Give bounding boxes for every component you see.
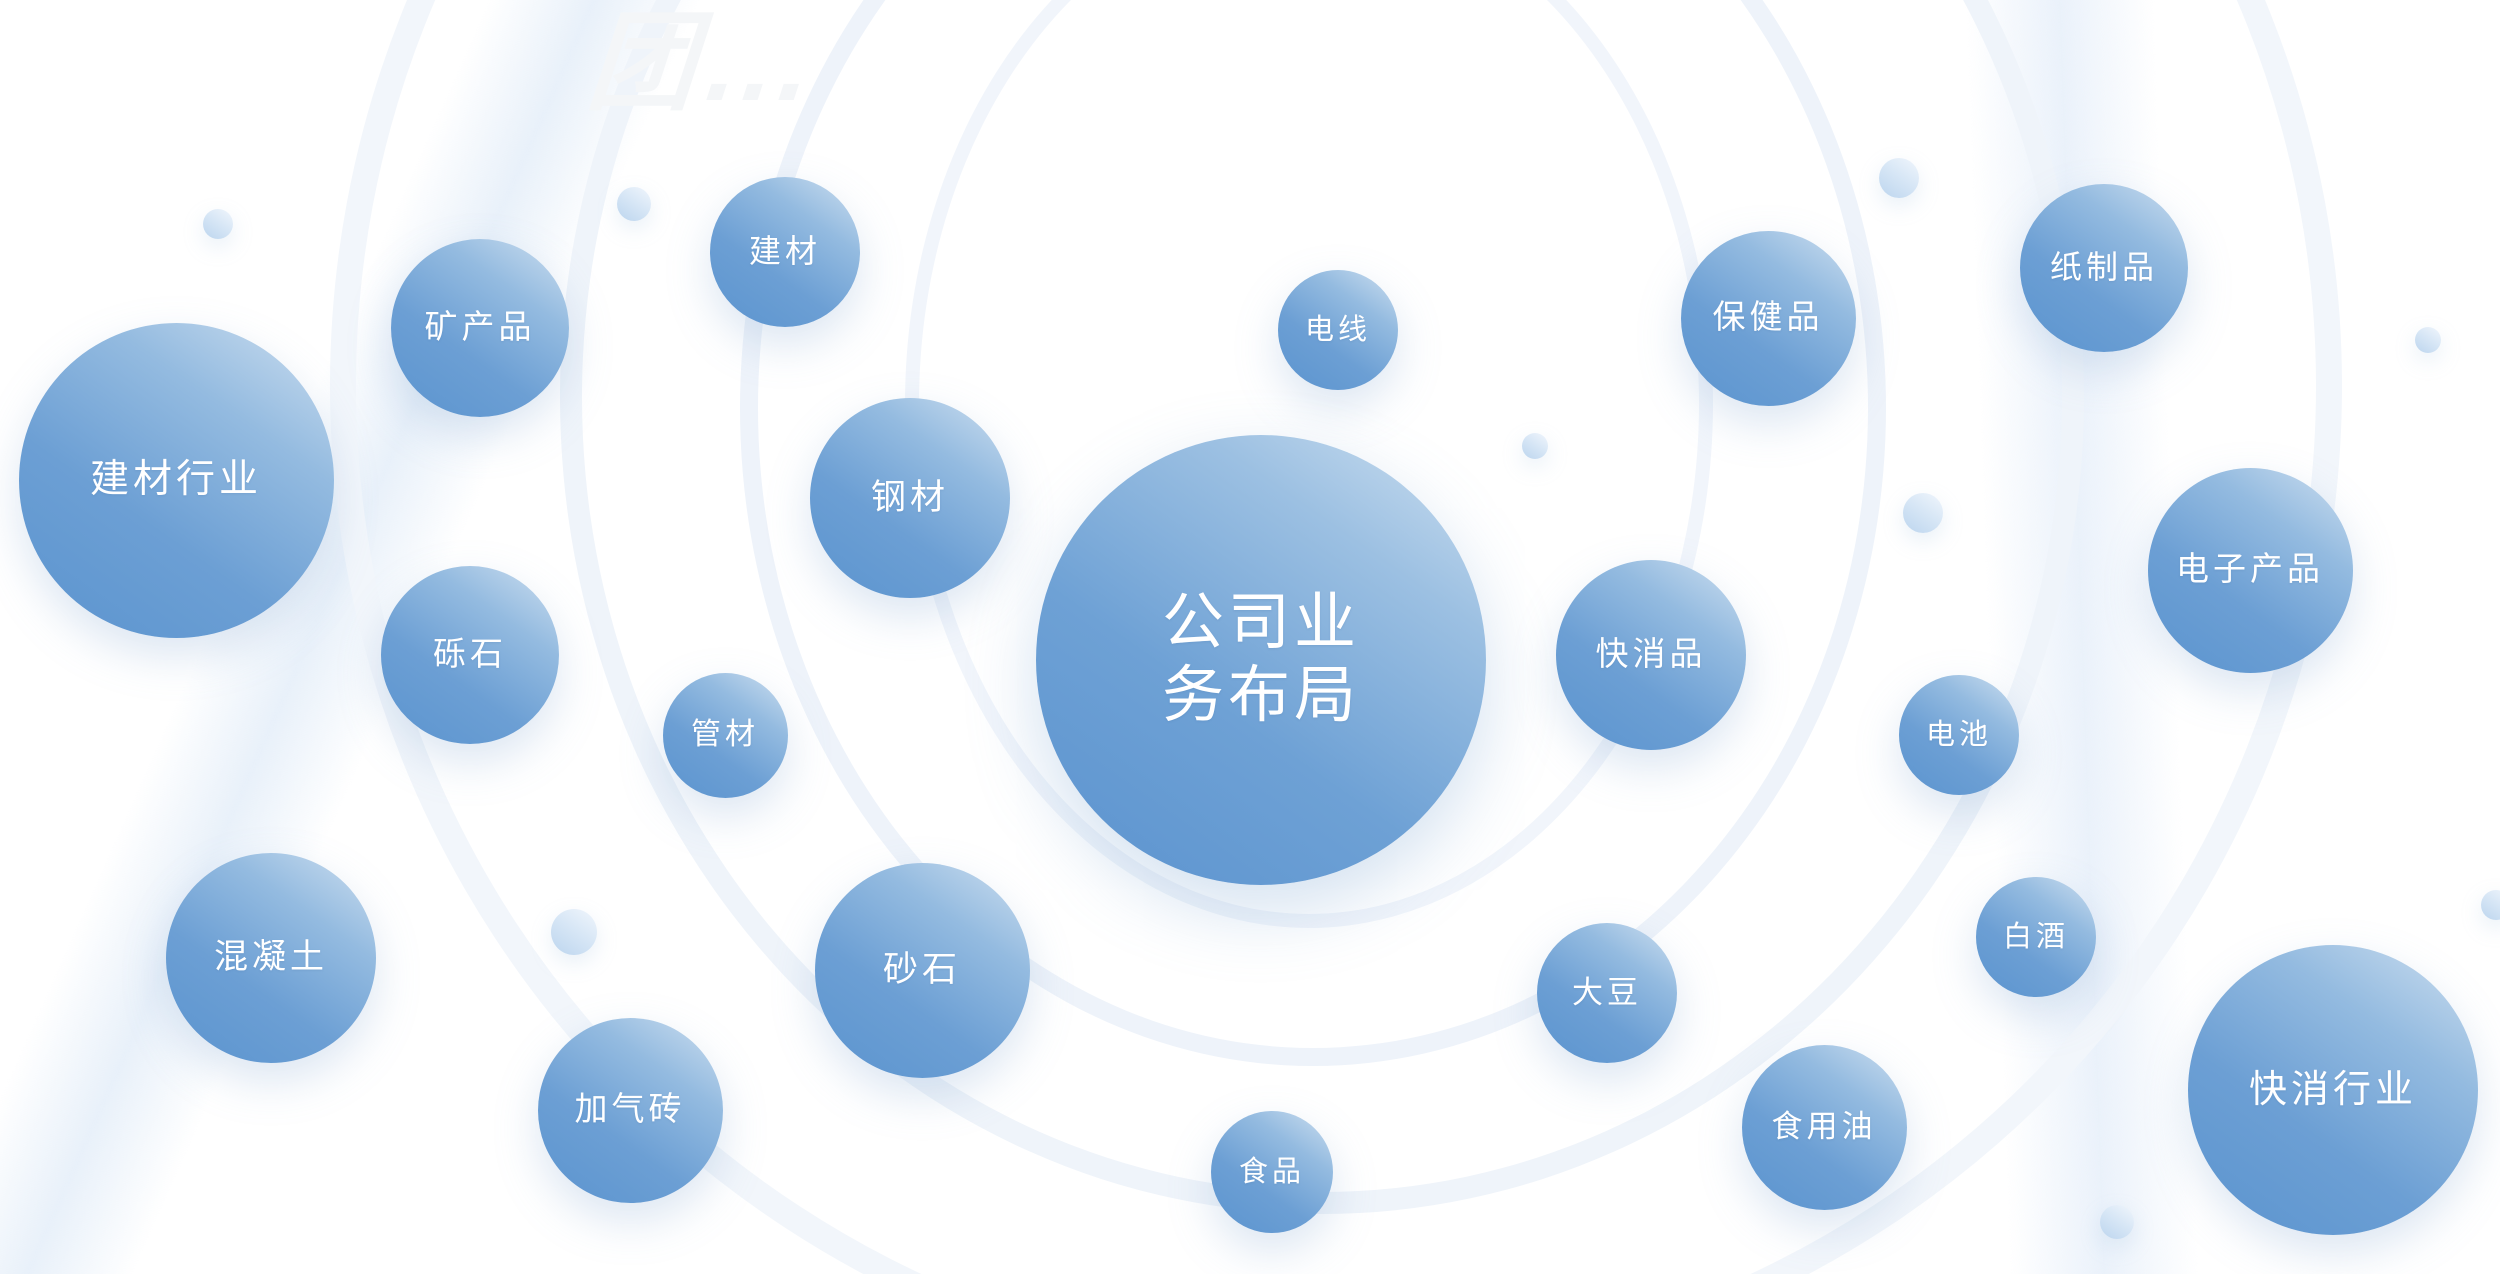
decorative-dot-2 [551,909,597,955]
bubble-5[interactable]: 加气砖 [538,1018,723,1203]
bubble-label: 混凝土 [214,938,328,978]
bubble-label: 电子产品 [2176,551,2324,590]
bubble-label: 白酒 [2003,920,2069,954]
decorative-dot-4 [1879,158,1919,198]
bubble-18[interactable]: 白酒 [1976,877,2096,997]
bubble-label: 砾石 [433,636,507,675]
bubble-label: 建材 [749,233,821,271]
bubble-label: 钢材 [871,477,949,518]
bubble-11[interactable]: 食用油 [1742,1045,1907,1210]
bubble-15[interactable]: 纸制品 [2020,184,2188,352]
bubble-0[interactable]: 建材行业 [19,323,334,638]
bubble-label: 电池 [1926,718,1992,752]
bubble-14[interactable]: 保健品 [1681,231,1856,406]
decorative-dot-8 [2481,890,2500,920]
bubble-label: 加气砖 [575,1091,686,1130]
decorative-dot-0 [203,209,233,239]
bubble-label: 建材行业 [90,457,262,503]
decorative-dot-1 [617,187,651,221]
infographic-canvas: 团... 建材行业矿产品建材砾石混凝土加气砖管材钢材砂石食品大豆食用油电线快消品… [0,0,2500,1274]
bubble-label: 大豆 [1572,975,1642,1012]
center-bubble[interactable]: 公司业 务布局 [1036,435,1486,885]
bubble-label: 管材 [691,717,759,752]
decorative-dot-3 [1522,433,1548,459]
bubble-8[interactable]: 砂石 [815,863,1030,1078]
bubble-16[interactable]: 电子产品 [2148,468,2353,673]
bubble-label: 快消品 [1596,636,1707,675]
bubble-label: 食品 [1239,1155,1305,1189]
decorative-dot-6 [2415,327,2441,353]
bubble-7[interactable]: 钢材 [810,398,1010,598]
bubble-label: 矿产品 [425,309,536,348]
bubble-6[interactable]: 管材 [663,673,788,798]
decorative-dot-5 [1903,493,1943,533]
bubble-4[interactable]: 混凝土 [166,853,376,1063]
bubble-label: 砂石 [883,949,961,990]
bubble-19[interactable]: 快消行业 [2188,945,2478,1235]
bubble-label: 食用油 [1772,1109,1877,1146]
decorative-dot-7 [2100,1205,2134,1239]
bubble-label: 保健品 [1713,299,1824,338]
center-bubble-label: 公司业 务布局 [1162,587,1360,733]
bubble-label: 纸制品 [2050,249,2158,287]
bubble-9[interactable]: 食品 [1211,1111,1333,1233]
bubble-3[interactable]: 砾石 [381,566,559,744]
bubble-10[interactable]: 大豆 [1537,923,1677,1063]
bubble-1[interactable]: 矿产品 [391,239,569,417]
watermark-text: 团... [575,0,848,132]
bubble-13[interactable]: 快消品 [1556,560,1746,750]
bubble-2[interactable]: 建材 [710,177,860,327]
bubble-12[interactable]: 电线 [1278,270,1398,390]
bubble-label: 电线 [1305,313,1371,347]
bubble-label: 快消行业 [2249,1068,2417,1113]
bubble-17[interactable]: 电池 [1899,675,2019,795]
